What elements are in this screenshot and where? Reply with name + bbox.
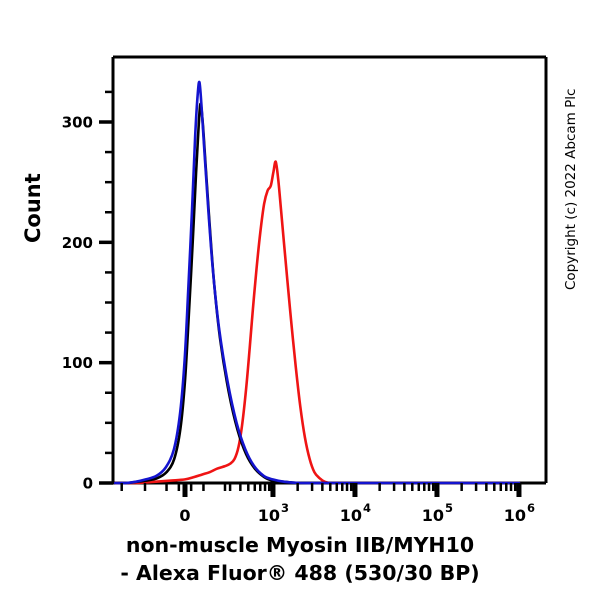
chart-title-line-1: non-muscle Myosin IIB/MYH10 bbox=[60, 531, 540, 559]
svg-text:3: 3 bbox=[281, 501, 289, 515]
chart-title: non-muscle Myosin IIB/MYH10 - Alexa Fluo… bbox=[60, 531, 540, 587]
svg-text:10: 10 bbox=[340, 506, 362, 525]
x-axis-tick-label: 104 bbox=[340, 501, 371, 525]
y-axis-tick-label: 200 bbox=[62, 234, 93, 252]
svg-text:5: 5 bbox=[445, 501, 453, 515]
tick-marks-group bbox=[99, 92, 519, 497]
y-axis-title: Count bbox=[21, 213, 45, 243]
curves-group bbox=[115, 82, 519, 483]
chart-title-line-2: - Alexa Fluor® 488 (530/30 BP) bbox=[60, 559, 540, 587]
y-axis-tick-label: 0 bbox=[83, 475, 93, 493]
svg-text:10: 10 bbox=[258, 506, 280, 525]
plot-canvas: 01002003000103104105106 bbox=[0, 0, 600, 600]
y-axis-tick-label: 300 bbox=[62, 114, 93, 132]
y-axis-tick-label: 100 bbox=[62, 354, 93, 372]
flow-cytometry-histogram-figure: 01002003000103104105106 Count Copyright … bbox=[0, 0, 600, 600]
copyright-notice: Copyright (c) 2022 Abcam Plc bbox=[563, 190, 579, 290]
x-axis-tick-label: 0 bbox=[179, 506, 190, 525]
axes-group bbox=[113, 57, 546, 483]
svg-text:4: 4 bbox=[363, 501, 371, 515]
svg-text:0: 0 bbox=[179, 506, 190, 525]
x-axis-tick-label: 105 bbox=[422, 501, 453, 525]
histogram-curve bbox=[115, 82, 519, 483]
svg-text:10: 10 bbox=[422, 506, 444, 525]
svg-text:10: 10 bbox=[504, 506, 526, 525]
x-axis-tick-label: 103 bbox=[258, 501, 289, 525]
x-axis-tick-label: 106 bbox=[504, 501, 535, 525]
svg-text:6: 6 bbox=[527, 501, 535, 515]
tick-labels-group: 01002003000103104105106 bbox=[62, 114, 535, 526]
